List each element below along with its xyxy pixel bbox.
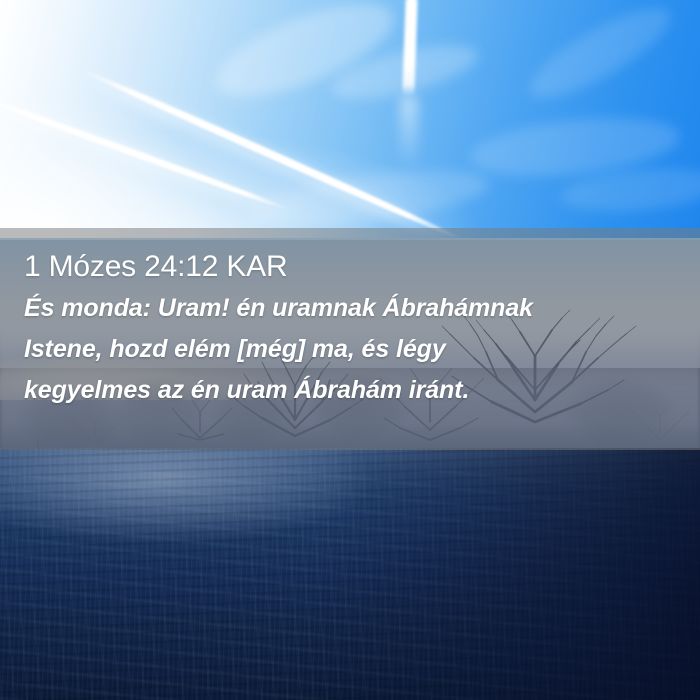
verse-line: És monda: Uram! én uramnak Ábrahámnak — [24, 288, 676, 329]
contrail-vertical-tail — [400, 95, 418, 170]
verse-text: És monda: Uram! én uramnak Ábrahámnak Is… — [24, 288, 676, 411]
verse-reference: 1 Mózes 24:12 KAR — [24, 250, 676, 284]
field-shadow-gradient — [0, 448, 700, 700]
verse-line: kegyelmes az én uram Ábrahám iránt. — [24, 370, 676, 411]
verse-image-canvas: 1 Mózes 24:12 KAR És monda: Uram! én ura… — [0, 0, 700, 700]
verse-text-block: 1 Mózes 24:12 KAR És monda: Uram! én ura… — [0, 228, 700, 450]
verse-line: Istene, hozd elém [még] ma, és légy — [24, 329, 676, 370]
